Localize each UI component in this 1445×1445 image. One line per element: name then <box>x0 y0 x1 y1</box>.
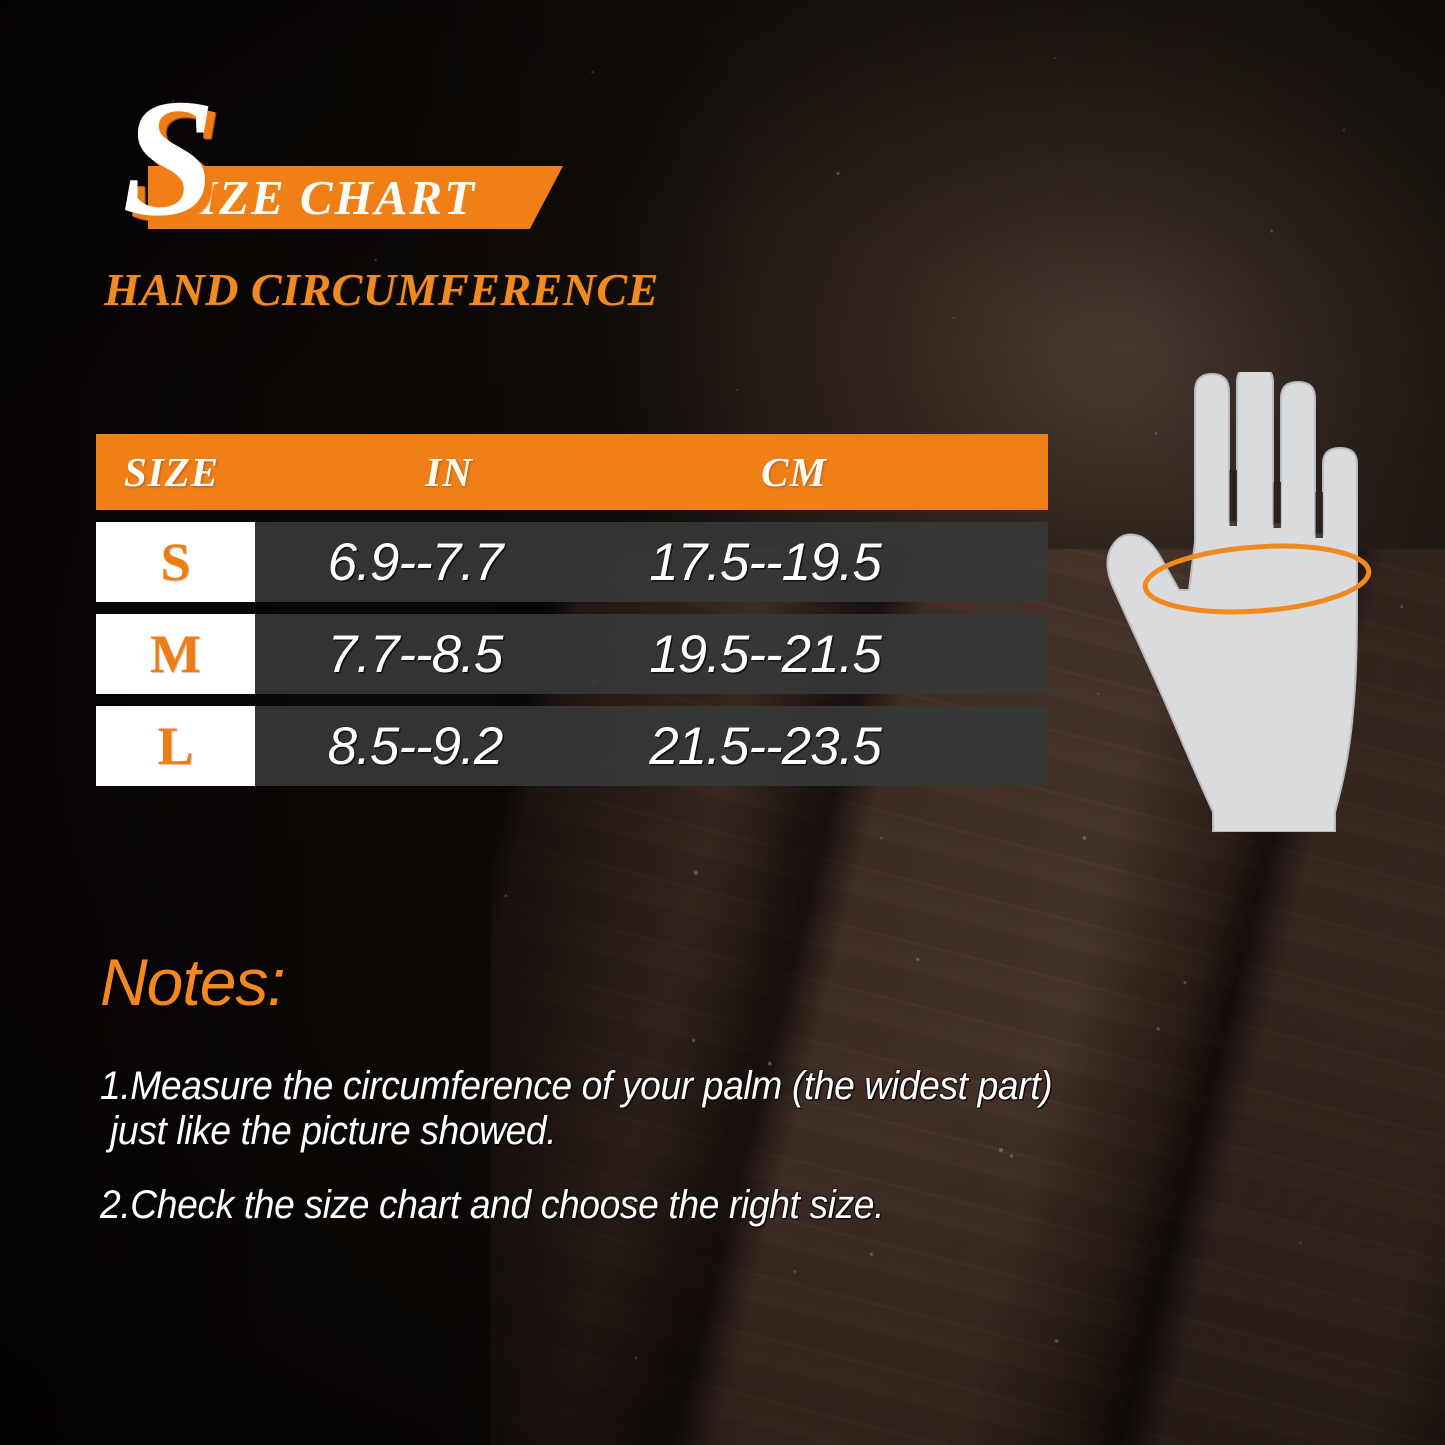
note-item-1-line-2: just like the picture showed. <box>110 1108 556 1155</box>
note-item-2: 2.Check the size chart and choose the ri… <box>100 1182 884 1229</box>
note-item-1-line-1: 1.Measure the circumference of your palm… <box>100 1063 1052 1110</box>
cell-size: L <box>96 706 255 786</box>
cell-cm: 17.5--19.5 <box>575 532 955 593</box>
cell-cm: 19.5--21.5 <box>575 624 955 685</box>
size-chart-page: S IZE CHART HAND CIRCUMFERENCE SIZE IN C… <box>0 0 1445 1445</box>
cell-in: 7.7--8.5 <box>255 624 575 685</box>
page-subtitle: HAND CIRCUMFERENCE <box>104 264 659 316</box>
table-header-row: SIZE IN CM <box>96 434 1048 510</box>
row-values: 7.7--8.5 19.5--21.5 <box>255 614 1048 694</box>
table-row: L 8.5--9.2 21.5--23.5 <box>96 706 1048 786</box>
hand-illustration <box>1085 372 1415 832</box>
table-row: S 6.9--7.7 17.5--19.5 <box>96 522 1048 602</box>
notes-heading: Notes: <box>100 944 285 1020</box>
size-chart-table: SIZE IN CM S 6.9--7.7 17.5--19.5 M 7.7--… <box>96 434 1048 786</box>
cell-cm: 21.5--23.5 <box>575 716 955 777</box>
title-initial-letter: S <box>122 74 213 242</box>
column-header-cm: CM <box>614 448 974 496</box>
cell-in: 8.5--9.2 <box>255 716 575 777</box>
table-row: M 7.7--8.5 19.5--21.5 <box>96 614 1048 694</box>
column-header-size: SIZE <box>96 448 284 496</box>
row-values: 8.5--9.2 21.5--23.5 <box>255 706 1048 786</box>
column-header-in: IN <box>284 448 614 496</box>
cell-in: 6.9--7.7 <box>255 532 575 593</box>
cell-size: S <box>96 522 255 602</box>
page-title: IZE CHART <box>198 172 476 224</box>
row-values: 6.9--7.7 17.5--19.5 <box>255 522 1048 602</box>
cell-size: M <box>96 614 255 694</box>
